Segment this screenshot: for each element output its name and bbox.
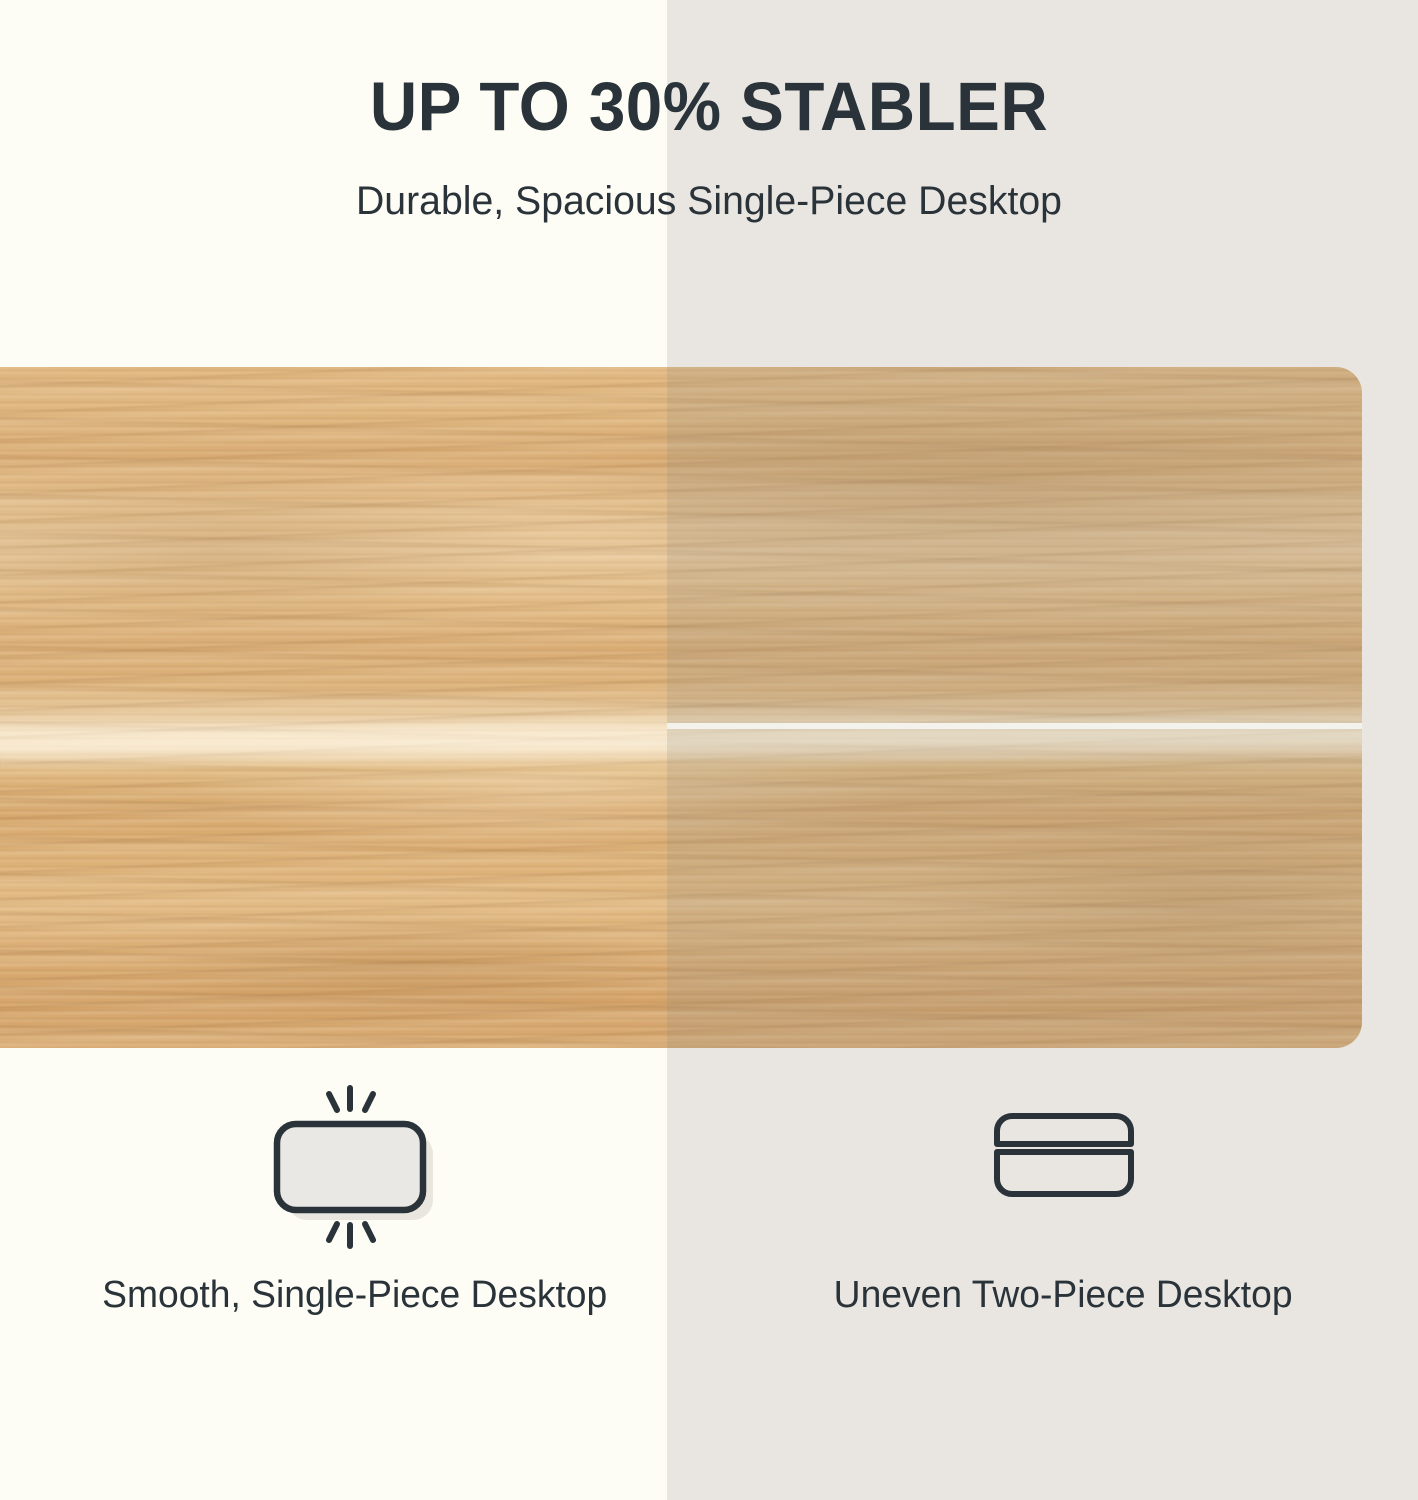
comparison-row: Smooth, Single-Piece Desktop Uneven Two-… <box>0 1080 1418 1460</box>
two-piece-icon-wrap <box>964 1080 1164 1270</box>
header: UP TO 30% STABLER Durable, Spacious Sing… <box>0 0 1418 300</box>
two-panel-stacked-icon <box>964 1080 1164 1270</box>
two-piece-caption: Uneven Two-Piece Desktop <box>834 1270 1293 1321</box>
single-panel-sparkle-icon <box>255 1080 455 1270</box>
page-subtitle: Durable, Spacious Single-Piece Desktop <box>14 178 1404 224</box>
comparison-column-two-piece: Uneven Two-Piece Desktop <box>709 1080 1418 1460</box>
desktop-seam-line <box>667 723 1362 729</box>
comparison-column-single-piece: Smooth, Single-Piece Desktop <box>0 1080 709 1460</box>
page-title: UP TO 30% STABLER <box>35 72 1382 141</box>
single-piece-caption: Smooth, Single-Piece Desktop <box>102 1270 607 1321</box>
single-piece-icon-wrap <box>255 1080 455 1270</box>
wood-right-half-wash <box>667 367 1362 1048</box>
desktop-hero-image <box>0 367 1362 1048</box>
